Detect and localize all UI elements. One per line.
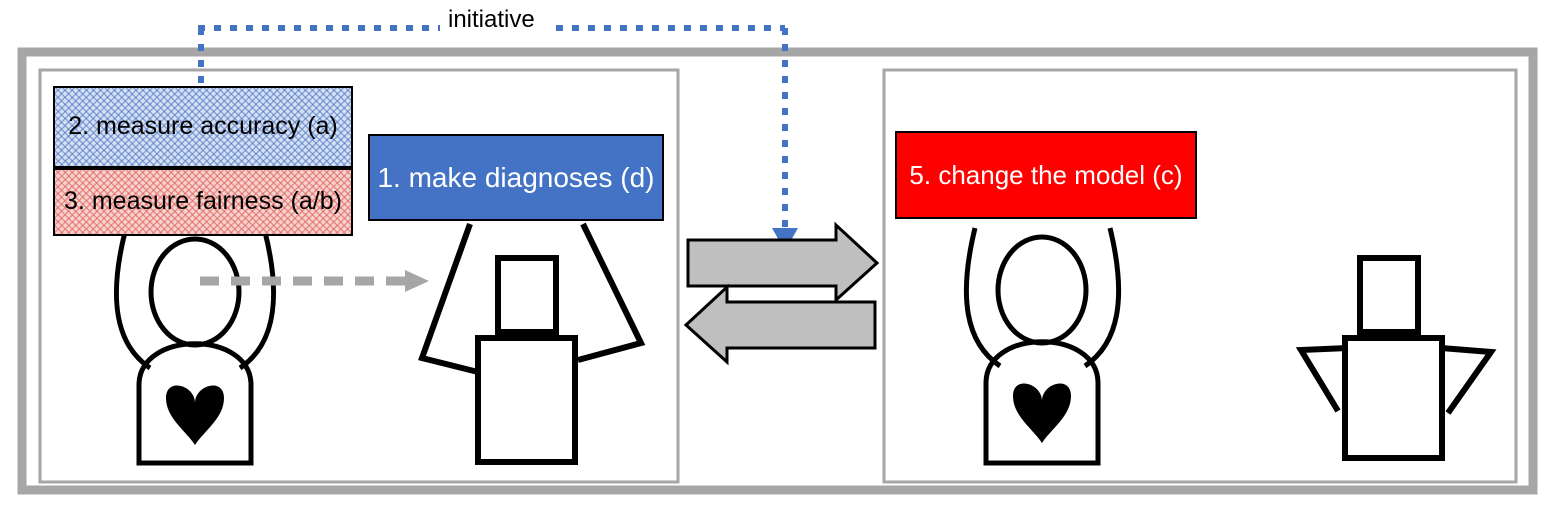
box-change-the-model[interactable]: 5. change the model (c) — [895, 131, 1197, 219]
initiative-label: initiative — [440, 6, 543, 34]
box-measure-accuracy-label: 2. measure accuracy (a) — [68, 112, 338, 142]
box-make-diagnoses-label: 1. make diagnoses (d) — [377, 161, 654, 194]
box-measure-accuracy[interactable]: 2. measure accuracy (a) — [53, 86, 353, 168]
diagram-canvas: 2. measure accuracy (a) 3. measure fairn… — [0, 0, 1555, 514]
diagram-vector-layer — [0, 0, 1555, 514]
box-measure-fairness[interactable]: 3. measure fairness (a/b) — [53, 168, 353, 236]
box-measure-fairness-label: 3. measure fairness (a/b) — [64, 187, 342, 217]
box-make-diagnoses[interactable]: 1. make diagnoses (d) — [368, 134, 664, 221]
box-change-the-model-label: 5. change the model (c) — [909, 160, 1182, 191]
exchange-arrow-left[interactable] — [686, 287, 875, 362]
